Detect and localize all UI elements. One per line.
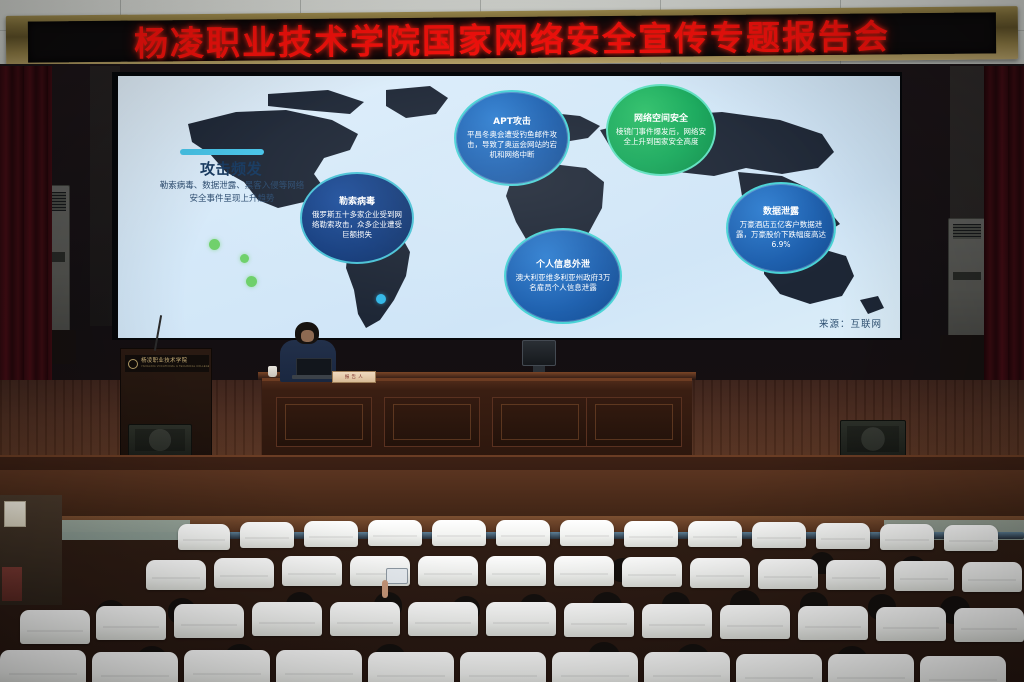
bubble-ransomware-body: 俄罗斯五十多家企业受到网络勒索攻击，众多企业遭受巨额损失 bbox=[310, 210, 404, 240]
laptop-screen bbox=[296, 358, 332, 376]
seat bbox=[720, 605, 790, 639]
seat bbox=[282, 556, 342, 586]
seat bbox=[554, 556, 614, 586]
seat bbox=[240, 522, 294, 548]
slide-heading: 攻击频发 bbox=[166, 158, 296, 179]
seat bbox=[736, 654, 822, 682]
led-banner-screen: 杨凌职业技术学院国家网络安全宣传专题报告会 bbox=[28, 12, 996, 62]
map-marker-green-2 bbox=[240, 254, 249, 263]
presentation-slide: 攻击频发 勒索病毒、数据泄露、黑客入侵等网络安全事件呈现上升趋势 勒索病毒 俄罗… bbox=[118, 76, 900, 338]
bubble-ransomware-title: 勒索病毒 bbox=[339, 196, 375, 208]
seat bbox=[690, 558, 750, 588]
desk-nameplate: 报 告 人 bbox=[332, 371, 376, 383]
seat bbox=[96, 606, 166, 640]
seat bbox=[92, 652, 178, 682]
stage-monitor-speaker-left bbox=[128, 424, 192, 458]
seat bbox=[418, 556, 478, 586]
slide-source-note: 来源：互联网 bbox=[819, 316, 882, 330]
confidence-monitor-stand bbox=[533, 366, 545, 372]
seat bbox=[816, 523, 870, 549]
bubble-apt-attack-title: APT攻击 bbox=[493, 116, 531, 128]
map-marker-green-3 bbox=[246, 276, 257, 287]
lectern-college-name-en: YANGLING VOCATIONAL & TECHNICAL COLLEGE bbox=[141, 364, 209, 370]
map-marker-green-1 bbox=[209, 239, 220, 250]
bubble-personal-info-leak-title: 个人信息外泄 bbox=[536, 259, 590, 271]
seat bbox=[146, 560, 206, 590]
seat bbox=[954, 608, 1024, 642]
seat bbox=[752, 522, 806, 548]
bubble-apt-attack: APT攻击 平昌冬奥会遭受钓鱼邮件攻击，导致了奥运会网站的宕机和网络中断 bbox=[454, 90, 570, 186]
bubble-data-breach-title: 数据泄露 bbox=[763, 206, 799, 218]
seat bbox=[214, 558, 274, 588]
cabinet-red-item bbox=[2, 567, 22, 601]
seat bbox=[644, 652, 730, 682]
seat bbox=[20, 610, 90, 644]
college-logo-icon bbox=[128, 359, 138, 369]
seat bbox=[432, 520, 486, 546]
bubble-cyberspace-security: 网络空间安全 棱镜门事件爆发后，网络安全上升到国家安全高度 bbox=[606, 84, 716, 176]
seat bbox=[552, 652, 638, 682]
seat bbox=[962, 562, 1022, 592]
seat bbox=[368, 520, 422, 546]
seat bbox=[920, 656, 1006, 682]
bubble-data-breach: 数据泄露 万豪酒店五亿客户数据泄露，万豪股价下跌幅度高达6.9% bbox=[726, 182, 836, 274]
desk-nameplate-text: 报 告 人 bbox=[345, 374, 363, 380]
cabinet-box-item bbox=[4, 501, 26, 527]
slide-accent-bar bbox=[180, 149, 264, 155]
stage-monitor-speaker-right bbox=[840, 420, 906, 460]
seat bbox=[0, 650, 86, 682]
seat bbox=[894, 561, 954, 591]
seat bbox=[564, 603, 634, 637]
laptop-base bbox=[292, 375, 336, 379]
seat bbox=[880, 524, 934, 550]
seat bbox=[330, 602, 400, 636]
seat bbox=[252, 602, 322, 636]
bubble-cyberspace-security-title: 网络空间安全 bbox=[634, 113, 688, 125]
presenter-face bbox=[301, 330, 314, 342]
seat bbox=[460, 652, 546, 682]
seat bbox=[560, 520, 614, 546]
lectern-sign: 杨凌职业技术学院 YANGLING VOCATIONAL & TECHNICAL… bbox=[125, 355, 209, 372]
map-marker-cyan-1 bbox=[376, 294, 386, 304]
bubble-personal-info-leak-body: 澳大利亚维多利亚州政府3万名雇员个人信息泄露 bbox=[514, 273, 612, 293]
seat bbox=[798, 606, 868, 640]
led-banner-frame: 杨凌职业技术学院国家网络安全宣传专题报告会 bbox=[6, 6, 1018, 69]
seat bbox=[174, 604, 244, 638]
seat bbox=[624, 521, 678, 547]
seat bbox=[486, 556, 546, 586]
attendee-tablet bbox=[386, 568, 408, 584]
seat bbox=[496, 520, 550, 546]
bubble-cyberspace-security-body: 棱镜门事件爆发后，网络安全上升到国家安全高度 bbox=[616, 127, 706, 147]
seat bbox=[304, 521, 358, 547]
side-cabinet bbox=[0, 495, 62, 605]
seat bbox=[642, 604, 712, 638]
slide-subtext: 勒索病毒、数据泄露、黑客入侵等网络安全事件呈现上升趋势 bbox=[156, 180, 308, 206]
seat bbox=[184, 650, 270, 682]
led-banner-text: 杨凌职业技术学院国家网络安全宣传专题报告会 bbox=[134, 12, 890, 62]
air-conditioner-right bbox=[948, 218, 986, 338]
seat bbox=[876, 607, 946, 641]
attendee-arm bbox=[382, 580, 388, 598]
seat bbox=[622, 557, 682, 587]
auditorium-photo: 杨凌职业技术学院国家网络安全宣传专题报告会 bbox=[0, 0, 1024, 682]
bubble-data-breach-body: 万豪酒店五亿客户数据泄露，万豪股价下跌幅度高达6.9% bbox=[736, 220, 826, 250]
seat bbox=[826, 560, 886, 590]
bubble-personal-info-leak: 个人信息外泄 澳大利亚维多利亚州政府3万名雇员个人信息泄露 bbox=[504, 228, 622, 324]
confidence-monitor bbox=[522, 340, 556, 366]
teacup bbox=[268, 366, 277, 377]
seat bbox=[276, 650, 362, 682]
bubble-apt-attack-body: 平昌冬奥会遭受钓鱼邮件攻击，导致了奥运会网站的宕机和网络中断 bbox=[464, 130, 560, 160]
seat bbox=[486, 602, 556, 636]
seat bbox=[178, 524, 230, 550]
seat bbox=[828, 654, 914, 682]
seat bbox=[944, 525, 998, 551]
seat bbox=[688, 521, 742, 547]
head-table bbox=[262, 378, 692, 458]
bubble-ransomware: 勒索病毒 俄罗斯五十多家企业受到网络勒索攻击，众多企业遭受巨额损失 bbox=[300, 172, 414, 264]
seat bbox=[368, 652, 454, 682]
seat bbox=[408, 602, 478, 636]
seat bbox=[758, 559, 818, 589]
